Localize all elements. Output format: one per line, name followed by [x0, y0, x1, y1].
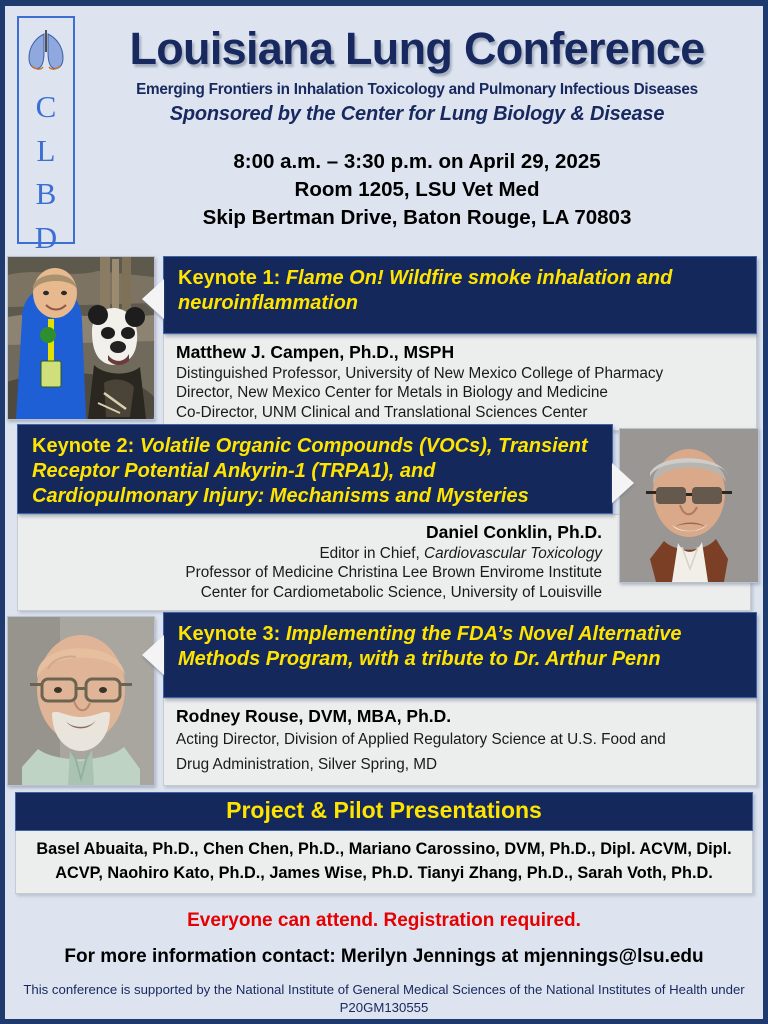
clbd-letter-c: C [36, 87, 57, 127]
lungs-icon [24, 26, 68, 83]
poster-title: Louisiana Lung Conference [71, 26, 763, 72]
clbd-logo: C L B D [17, 16, 75, 244]
speaker-photo-conklin [619, 428, 759, 583]
clbd-letter-d: D [35, 218, 57, 258]
callout-arrow-left-icon [142, 635, 164, 675]
keynote-2-separator: : [128, 435, 140, 457]
event-details: 8:00 a.m. – 3:30 p.m. on April 29, 2025 … [71, 148, 763, 233]
keynote-2-affiliation-1-text: Editor in Chief, [319, 545, 424, 562]
poster-header: C L B D Louisiana Lung Conference Emergi… [5, 6, 763, 254]
keynote-1-label: Keynote 1 [178, 267, 274, 289]
keynote-2-affiliation-3: Center for Cardiometabolic Science, Univ… [30, 583, 602, 603]
conference-poster: C L B D Louisiana Lung Conference Emergi… [0, 0, 768, 1024]
keynote-1-banner: Keynote 1: Flame On! Wildfire smoke inha… [163, 256, 757, 334]
keynote-3-content: Keynote 3: Implementing the FDA’s Novel … [163, 612, 757, 786]
event-datetime: 8:00 a.m. – 3:30 p.m. on April 29, 2025 [71, 148, 763, 176]
projects-presenter-names: Basel Abuaita, Ph.D., Chen Chen, Ph.D., … [15, 831, 753, 894]
keynote-1-speaker-panel: Matthew J. Campen, Ph.D., MSPH Distingui… [163, 334, 757, 431]
event-room: Room 1205, LSU Vet Med [71, 176, 763, 204]
keynote-2-banner: Keynote 2: Volatile Organic Compounds (V… [17, 424, 613, 514]
grant-acknowledgement: This conference is supported by the Nati… [5, 981, 763, 1016]
poster-sponsor-line: Sponsored by the Center for Lung Biology… [71, 103, 763, 126]
keynote-1-content: Keynote 1: Flame On! Wildfire smoke inha… [163, 256, 757, 431]
keynote-1-affiliation-2: Director, New Mexico Center for Metals i… [176, 383, 744, 403]
keynote-1-separator: : [274, 267, 286, 289]
projects-section: Project & Pilot Presentations Basel Abua… [15, 792, 753, 894]
keynote-2-speaker-name: Daniel Conklin, Ph.D. [30, 521, 602, 544]
keynote-3-speaker-name: Rodney Rouse, DVM, MBA, Ph.D. [176, 705, 744, 728]
poster-subtitle: Emerging Frontiers in Inhalation Toxicol… [71, 81, 763, 99]
grant-line-1: This conference is supported by the Nati… [23, 982, 707, 997]
keynote-3-banner: Keynote 3: Implementing the FDA’s Novel … [163, 612, 757, 698]
poster-footer: Everyone can attend. Registration requir… [5, 910, 763, 1016]
keynote-1-speaker-name: Matthew J. Campen, Ph.D., MSPH [176, 341, 744, 364]
keynote-3-affiliation-1: Acting Director, Division of Applied Reg… [176, 728, 744, 753]
keynote-2-section: Keynote 2: Volatile Organic Compounds (V… [5, 424, 763, 609]
callout-arrow-left-icon [142, 279, 164, 319]
keynote-3-affiliation-2: Drug Administration, Silver Spring, MD [176, 753, 744, 778]
registration-notice: Everyone can attend. Registration requir… [5, 910, 763, 932]
keynote-3-label: Keynote 3 [178, 623, 274, 645]
keynote-1-affiliation-3: Co-Director, UNM Clinical and Translatio… [176, 403, 744, 423]
keynote-1-section: Keynote 1: Flame On! Wildfire smoke inha… [5, 256, 763, 421]
keynote-2-content: Keynote 2: Volatile Organic Compounds (V… [17, 424, 613, 611]
keynote-3-speaker-panel: Rodney Rouse, DVM, MBA, Ph.D. Acting Dir… [163, 698, 757, 786]
clbd-letter-b: B [36, 174, 57, 214]
clbd-letter-l: L [37, 131, 56, 171]
keynote-3-separator: : [274, 623, 286, 645]
keynote-2-journal-name: Cardiovascular Toxicology [424, 545, 602, 562]
keynote-2-label: Keynote 2 [32, 435, 128, 457]
contact-info: For more information contact: Merilyn Je… [5, 946, 763, 968]
keynote-3-section: Keynote 3: Implementing the FDA’s Novel … [5, 612, 763, 784]
keynote-2-affiliation-2: Professor of Medicine Christina Lee Brow… [30, 563, 602, 583]
event-address: Skip Bertman Drive, Baton Rouge, LA 7080… [71, 204, 763, 232]
keynote-2-affiliation-1: Editor in Chief, Cardiovascular Toxicolo… [30, 544, 602, 564]
keynote-1-affiliation-1: Distinguished Professor, University of N… [176, 364, 744, 384]
speaker-photo-rouse [7, 616, 155, 786]
callout-arrow-right-icon [612, 463, 634, 503]
speaker-photo-campen [7, 256, 155, 420]
projects-heading: Project & Pilot Presentations [15, 792, 753, 831]
